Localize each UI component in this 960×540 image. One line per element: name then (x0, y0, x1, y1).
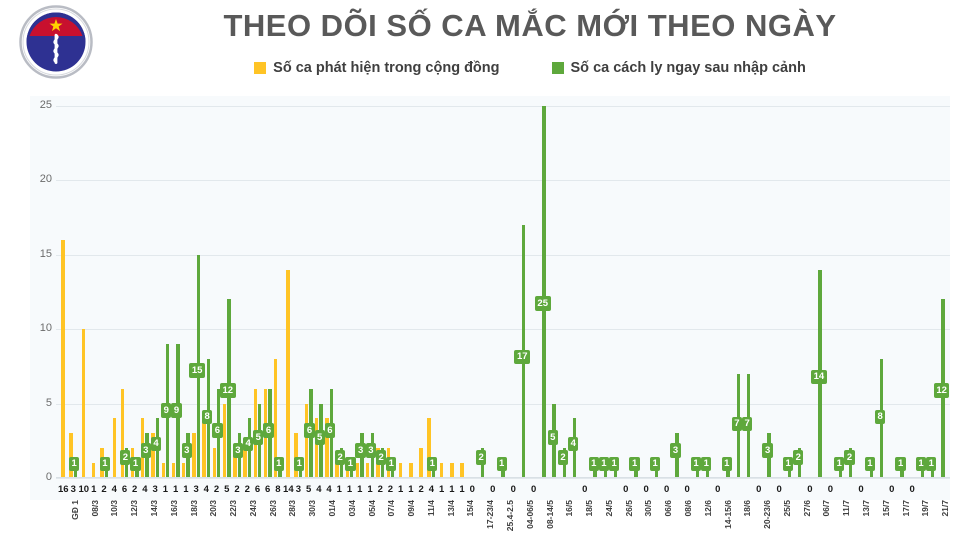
bar-group: 5 (549, 96, 559, 500)
bar-group: 1 (590, 96, 600, 500)
bar-value-community: 6 (119, 485, 129, 495)
chart-bars: 1631101214622143341919133154826512232465… (58, 96, 948, 500)
bar-group: 4 (109, 96, 119, 500)
bar-group: 1 (600, 96, 610, 500)
bar-group: 10 (78, 96, 88, 500)
legend-label-quarantine: Số ca cách ly ngay sau nhập cảnh (571, 60, 806, 76)
bar-value-quarantine: 12 (934, 383, 950, 398)
bar-community (213, 448, 216, 478)
bar-community (69, 433, 72, 478)
bar-community (409, 463, 412, 478)
bar-value-quarantine: 2 (844, 450, 854, 465)
chart-header: THEO DÕI SỐ CA MẮC MỚI THEO NGÀY Số ca p… (0, 0, 960, 92)
bar-group: 12 (938, 96, 948, 500)
bar-group: 1 (447, 96, 457, 500)
bar-value-community: 6 (263, 485, 273, 495)
community-swatch (254, 62, 266, 74)
bar-community (202, 418, 205, 478)
bar-value-quarantine: 1 (865, 457, 875, 472)
bar-group: 31 (293, 96, 303, 500)
bar-value-community: 1 (396, 485, 406, 495)
bar-value-community: 3 (150, 485, 160, 495)
x-axis-tick: 26/3 (268, 500, 278, 517)
bar-group: 8 (876, 96, 886, 500)
bar-group: 1 (723, 96, 733, 500)
x-axis-labels: GĐ 108/310/312/314/316/318/320/322/324/3… (58, 500, 950, 540)
bar-group: 21 (130, 96, 140, 500)
bar-group: 43 (140, 96, 150, 500)
bar-group: 41 (426, 96, 436, 500)
x-axis-tick: 30/3 (307, 500, 317, 517)
bar-group: 23 (232, 96, 242, 500)
bar-value-quarantine: 5 (548, 430, 558, 445)
bar-group: 13 (355, 96, 365, 500)
bar-group: 1 (835, 96, 845, 500)
bar-value-community: 14 (283, 485, 293, 495)
bar-value-community: 1 (447, 485, 457, 495)
bar-community (460, 463, 463, 478)
bar-group: 0 (641, 96, 651, 500)
x-axis-tick: 12/6 (703, 500, 713, 517)
x-axis-tick: 21/7 (940, 500, 950, 517)
bar-group: 19 (160, 96, 170, 500)
bar-group: 24 (242, 96, 252, 500)
bar-group: 62 (119, 96, 129, 500)
bar-group: 2 (846, 96, 856, 500)
bar-value-quarantine: 1 (609, 457, 619, 472)
bar-group: 0 (682, 96, 692, 500)
x-axis-tick: 15/7 (881, 500, 891, 517)
bar-value-community: 0 (467, 485, 477, 495)
bar-community (399, 463, 402, 478)
bar-group: 26 (211, 96, 221, 500)
bar-community (172, 463, 175, 478)
bar-value-community: 4 (426, 485, 436, 495)
bar-value-community: 8 (273, 485, 283, 495)
bar-group: 1 (396, 96, 406, 500)
bar-group: 1 (498, 96, 508, 500)
bar-value-community: 1 (334, 485, 344, 495)
bar-value-community: 1 (160, 485, 170, 495)
bar-community (356, 463, 359, 478)
bar-value-quarantine: 1 (691, 457, 701, 472)
x-axis-tick: 08-14/5 (545, 500, 555, 529)
bar-group: 46 (324, 96, 334, 500)
bar-value-community: 4 (140, 485, 150, 495)
bar-group: 12 (334, 96, 344, 500)
bar-value-community: 5 (222, 485, 232, 495)
x-axis-tick: 06/7 (821, 500, 831, 517)
bar-value-community: 4 (314, 485, 324, 495)
bar-group: 1 (702, 96, 712, 500)
bar-group: 2 (477, 96, 487, 500)
bar-community (223, 404, 226, 478)
bar-group: 512 (222, 96, 232, 500)
x-axis-tick: 20/3 (208, 500, 218, 517)
legend-item-community: Số ca phát hiện trong cộng đồng (254, 60, 499, 76)
bar-group: 1 (692, 96, 702, 500)
bar-value-quarantine: 2 (476, 450, 486, 465)
bar-group: 0 (488, 96, 498, 500)
bar-value-quarantine: 8 (875, 410, 885, 425)
bar-value-community: 10 (78, 485, 88, 495)
x-axis-tick: 26/5 (624, 500, 634, 517)
x-axis-tick: 01/4 (327, 500, 337, 517)
bar-value-quarantine: 3 (762, 443, 772, 458)
bar-community (162, 463, 165, 478)
x-axis-tick: 13/7 (861, 500, 871, 517)
bar-group: 65 (252, 96, 262, 500)
bar-group: 0 (825, 96, 835, 500)
bar-group: 1 (866, 96, 876, 500)
bar-group: 81 (273, 96, 283, 500)
bar-value-community: 0 (856, 485, 866, 495)
bar-value-community: 1 (89, 485, 99, 495)
bar-community (440, 463, 443, 478)
bar-group: 45 (314, 96, 324, 500)
y-axis-tick-25: 25 (30, 99, 52, 111)
bar-group: 3 (764, 96, 774, 500)
bar-value-community: 3 (293, 485, 303, 495)
x-axis-tick: 25/5 (782, 500, 792, 517)
bar-value-community: 0 (682, 485, 692, 495)
x-axis-tick: 14-15/6 (723, 500, 733, 529)
x-axis-tick: 24/5 (604, 500, 614, 517)
bar-group: 0 (662, 96, 672, 500)
bar-community (82, 329, 85, 478)
bar-group: 0 (887, 96, 897, 500)
bar-value-quarantine: 1 (497, 457, 507, 472)
x-axis-tick: 15/4 (465, 500, 475, 517)
x-axis-tick: 25.4-2.5 (505, 500, 515, 531)
bar-community (61, 240, 64, 478)
x-axis-tick: 10/3 (109, 500, 119, 517)
bar-group: 1 (406, 96, 416, 500)
x-axis-tick: 09/4 (406, 500, 416, 517)
bar-value-community: 1 (457, 485, 467, 495)
bar-value-community: 0 (774, 485, 784, 495)
bar-value-community: 0 (662, 485, 672, 495)
bar-value-community: 1 (406, 485, 416, 495)
bar-group: 0 (621, 96, 631, 500)
bar-community (450, 463, 453, 478)
bar-value-quarantine: 3 (670, 443, 680, 458)
bar-community (286, 270, 289, 478)
bar-group: 7 (733, 96, 743, 500)
bar-community (294, 433, 297, 478)
bar-group: 7 (743, 96, 753, 500)
bar-group: 0 (754, 96, 764, 500)
bar-value-community: 6 (252, 485, 262, 495)
x-axis-tick: 07/4 (386, 500, 396, 517)
bar-value-quarantine: 1 (895, 457, 905, 472)
bar-group: 21 (99, 96, 109, 500)
x-axis-tick: 18/3 (189, 500, 199, 517)
x-axis-tick: 30/5 (643, 500, 653, 517)
bar-group: 31 (68, 96, 78, 500)
bar-group: 19 (171, 96, 181, 500)
y-axis-tick-15: 15 (30, 248, 52, 260)
bar-value-quarantine: 1 (629, 457, 639, 472)
bar-value-quarantine: 1 (722, 457, 732, 472)
bar-value-quarantine: 4 (568, 437, 578, 452)
x-axis-tick: 17-23/4 (485, 500, 495, 529)
bar-group: 2 (795, 96, 805, 500)
x-axis-tick: 20-23/6 (762, 500, 772, 529)
bar-value-community: 5 (304, 485, 314, 495)
bar-community (243, 448, 246, 478)
y-axis-tick-10: 10 (30, 322, 52, 334)
y-axis-tick-0: 0 (30, 471, 52, 483)
bar-group: 1 (651, 96, 661, 500)
bar-group: 17 (518, 96, 528, 500)
bar-group: 0 (805, 96, 815, 500)
x-axis-tick: 04-06/5 (525, 500, 535, 529)
bar-group: 1 (610, 96, 620, 500)
bar-value-quarantine: 1 (589, 457, 599, 472)
bar-value-quarantine: 1 (916, 457, 926, 472)
x-axis-tick: 14/3 (149, 500, 159, 517)
bar-value-community: 2 (385, 485, 395, 495)
x-axis-tick: GĐ 1 (70, 500, 80, 520)
bar-group: 22 (375, 96, 385, 500)
bar-value-quarantine: 1 (599, 457, 609, 472)
bar-group: 1 (784, 96, 794, 500)
bar-group: 0 (580, 96, 590, 500)
bar-value-community: 0 (887, 485, 897, 495)
legend-label-community: Số ca phát hiện trong cộng đồng (273, 60, 499, 76)
bar-value-community: 0 (754, 485, 764, 495)
bar-value-community: 3 (68, 485, 78, 495)
x-axis-tick: 18/5 (584, 500, 594, 517)
y-axis-tick-5: 5 (30, 397, 52, 409)
bar-value-community: 1 (355, 485, 365, 495)
bar-community (305, 404, 308, 478)
bar-group: 48 (201, 96, 211, 500)
bar-community (182, 463, 185, 478)
x-axis-tick: 24/3 (248, 500, 258, 517)
bar-value-community: 0 (508, 485, 518, 495)
page-title: THEO DÕI SỐ CA MẮC MỚI THEO NGÀY (120, 8, 940, 44)
x-axis-tick: 16/3 (169, 500, 179, 517)
x-axis-tick: 28/3 (287, 500, 297, 517)
x-axis-tick: 16/5 (564, 500, 574, 517)
bar-group: 2 (416, 96, 426, 500)
quarantine-swatch (552, 62, 564, 74)
bar-value-quarantine: 1 (834, 457, 844, 472)
bar-group: 0 (907, 96, 917, 500)
bar-community (315, 418, 318, 478)
bar-value-community: 4 (201, 485, 211, 495)
x-axis-tick: 06/6 (663, 500, 673, 517)
bar-value-community: 0 (825, 485, 835, 495)
x-axis-line (56, 477, 950, 478)
bar-community (121, 389, 124, 478)
bar-group: 315 (191, 96, 201, 500)
bar-group: 13 (181, 96, 191, 500)
bar-value-quarantine: 2 (793, 450, 803, 465)
bar-value-community: 1 (181, 485, 191, 495)
bar-value-community: 0 (641, 485, 651, 495)
bar-community (192, 433, 195, 478)
bar-group: 14 (815, 96, 825, 500)
bar-value-community: 2 (232, 485, 242, 495)
bar-group: 1 (928, 96, 938, 500)
bar-value-quarantine: 1 (650, 457, 660, 472)
bar-group: 21 (385, 96, 395, 500)
x-axis-tick: 05/4 (367, 500, 377, 517)
bar-community (113, 418, 116, 478)
bar-group: 3 (672, 96, 682, 500)
bar-quarantine (542, 106, 545, 478)
bar-value-community: 0 (580, 485, 590, 495)
x-axis-tick: 11/7 (841, 500, 851, 516)
bar-value-quarantine: 2 (558, 450, 568, 465)
bar-value-community: 0 (529, 485, 539, 495)
x-axis-tick: 17/7 (901, 500, 911, 517)
bar-group: 1 (89, 96, 99, 500)
bar-group: 1 (437, 96, 447, 500)
bar-value-community: 0 (805, 485, 815, 495)
bar-group: 0 (856, 96, 866, 500)
bar-group: 0 (774, 96, 784, 500)
bar-value-community: 2 (99, 485, 109, 495)
bar-value-community: 2 (242, 485, 252, 495)
bar-community (92, 463, 95, 478)
bar-value-community: 4 (109, 485, 119, 495)
bar-value-community: 2 (211, 485, 221, 495)
bar-value-community: 1 (365, 485, 375, 495)
bar-group: 4 (569, 96, 579, 500)
bar-group: 0 (467, 96, 477, 500)
bar-group: 1 (457, 96, 467, 500)
bar-value-quarantine: 7 (742, 417, 752, 432)
bar-value-community: 1 (437, 485, 447, 495)
bar-group: 1 (917, 96, 927, 500)
bar-value-quarantine: 1 (701, 457, 711, 472)
x-axis-tick: 19/7 (920, 500, 930, 517)
bar-group: 14 (283, 96, 293, 500)
bar-community (419, 448, 422, 478)
bar-group: 13 (365, 96, 375, 500)
x-axis-tick: 18/6 (742, 500, 752, 517)
bar-group: 56 (304, 96, 314, 500)
bar-value-community: 0 (488, 485, 498, 495)
bar-value-community: 0 (907, 485, 917, 495)
bar-community (335, 463, 338, 478)
x-axis-tick: 08/6 (683, 500, 693, 517)
bar-value-community: 1 (344, 485, 354, 495)
bar-group: 34 (150, 96, 160, 500)
bar-group: 0 (508, 96, 518, 500)
bar-value-community: 3 (191, 485, 201, 495)
x-axis-tick: 03/4 (347, 500, 357, 517)
bar-value-community: 16 (58, 485, 68, 495)
bar-value-community: 1 (171, 485, 181, 495)
bar-group: 1 (897, 96, 907, 500)
bar-value-quarantine: 1 (926, 457, 936, 472)
chart-legend: Số ca phát hiện trong cộng đồng Số ca cá… (120, 60, 940, 76)
bar-value-community: 2 (130, 485, 140, 495)
bar-community (366, 463, 369, 478)
ministry-of-health-logo-icon (18, 4, 94, 80)
bar-value-community: 2 (416, 485, 426, 495)
bar-group: 0 (713, 96, 723, 500)
x-axis-tick: 13/4 (446, 500, 456, 517)
chart-plot-area: 0510152025 16311012146221433419191331548… (30, 96, 950, 500)
y-axis-tick-20: 20 (30, 173, 52, 185)
legend-item-quarantine: Số ca cách ly ngay sau nhập cảnh (552, 60, 806, 76)
bar-group: 1 (631, 96, 641, 500)
bar-value-quarantine: 1 (783, 457, 793, 472)
bar-value-community: 4 (324, 485, 334, 495)
bar-value-quarantine: 7 (732, 417, 742, 432)
bar-value-community: 2 (375, 485, 385, 495)
x-axis-tick: 22/3 (228, 500, 238, 517)
x-axis-tick: 27/6 (802, 500, 812, 517)
bar-value-community: 0 (713, 485, 723, 495)
x-axis-tick: 08/3 (90, 500, 100, 517)
x-axis-tick: 12/3 (129, 500, 139, 517)
bar-group: 11 (344, 96, 354, 500)
x-axis-tick: 11/4 (426, 500, 436, 516)
bar-group: 66 (263, 96, 273, 500)
bar-value-community: 0 (621, 485, 631, 495)
bar-group: 16 (58, 96, 68, 500)
